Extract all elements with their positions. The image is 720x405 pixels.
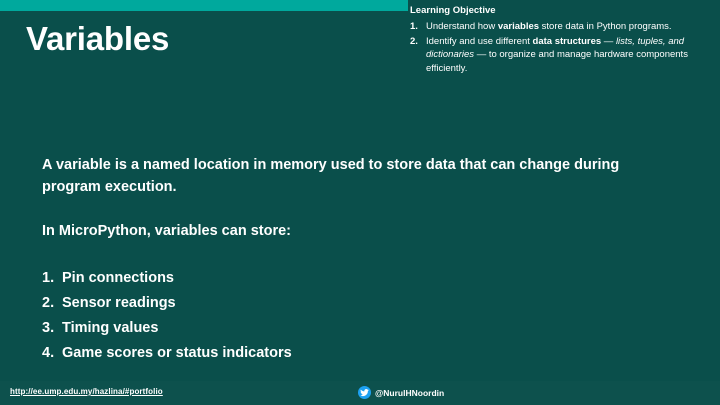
list-item-number: 4. <box>42 343 62 365</box>
learning-objective-heading: Learning Objective <box>410 5 702 18</box>
top-accent-bar <box>0 0 408 11</box>
list-item-text: Identify and use different data structur… <box>426 35 702 76</box>
list-item-label: Sensor readings <box>62 293 176 315</box>
list-item-label: Game scores or status indicators <box>62 343 292 365</box>
list-item: 4. Game scores or status indicators <box>42 343 662 365</box>
learning-objective-panel: Learning Objective 1. Understand how var… <box>410 5 702 77</box>
paragraph-spacer <box>42 199 662 221</box>
list-item: 2. Identify and use different data struc… <box>410 35 702 76</box>
list-item-number: 2. <box>42 293 62 315</box>
list-item-label: Pin connections <box>62 268 174 290</box>
storage-types-list: 1. Pin connections 2. Sensor readings 3.… <box>42 268 662 364</box>
list-item-number: 1. <box>410 20 426 34</box>
list-item-number: 2. <box>410 35 426 76</box>
list-item: 1. Understand how variables store data i… <box>410 20 702 34</box>
slide-canvas: Variables Learning Objective 1. Understa… <box>0 0 720 405</box>
intro-paragraph: In MicroPython, variables can store: <box>42 221 662 243</box>
learning-objective-list: 1. Understand how variables store data i… <box>410 20 702 76</box>
list-item-number: 1. <box>42 268 62 290</box>
page-title: Variables <box>26 22 169 55</box>
list-item-number: 3. <box>42 318 62 340</box>
list-item: 2. Sensor readings <box>42 293 662 315</box>
body-content: A variable is a named location in memory… <box>42 155 662 367</box>
portfolio-url-link[interactable]: http://ee.ump.edu.my/hazlina/#portfolio <box>10 387 163 396</box>
list-item: 3. Timing values <box>42 318 662 340</box>
list-item-text: Understand how variables store data in P… <box>426 20 702 34</box>
social-handle-group[interactable]: @NurulHNoordin <box>358 386 444 399</box>
definition-paragraph: A variable is a named location in memory… <box>42 155 662 199</box>
list-item: 1. Pin connections <box>42 268 662 290</box>
list-item-label: Timing values <box>62 318 158 340</box>
social-handle-text: @NurulHNoordin <box>375 388 444 398</box>
footer-bar: http://ee.ump.edu.my/hazlina/#portfolio … <box>0 381 720 405</box>
twitter-icon[interactable] <box>358 386 371 399</box>
